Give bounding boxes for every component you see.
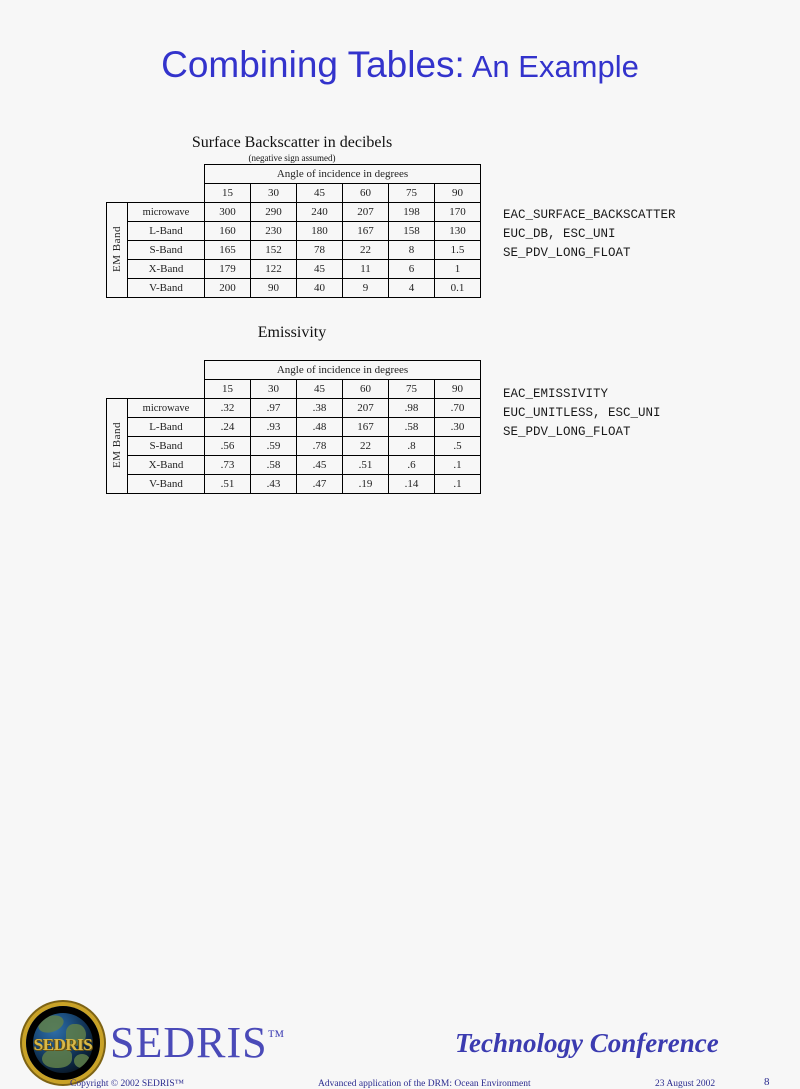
corner-spacer bbox=[107, 165, 128, 184]
table-cell: 8 bbox=[389, 241, 435, 260]
row-group-label-text: EM Band bbox=[112, 422, 123, 468]
sedris-wordmark: SEDRIS™ bbox=[110, 1017, 285, 1068]
table-cell: 158 bbox=[389, 222, 435, 241]
table-cell: 160 bbox=[205, 222, 251, 241]
row-label: microwave bbox=[128, 399, 205, 418]
table-cell: 130 bbox=[435, 222, 481, 241]
table-cell: 1.5 bbox=[435, 241, 481, 260]
sedris-wordmark-text: SEDRIS bbox=[110, 1018, 268, 1067]
trademark-symbol: ™ bbox=[268, 1026, 286, 1045]
table-cell: 165 bbox=[205, 241, 251, 260]
column-group-label-emissivity: Angle of incidence in degrees bbox=[205, 361, 481, 380]
table-row: X-Band .73 .58 .45 .51 .6 .1 bbox=[107, 456, 481, 475]
table-caption-emissivity: Emissivity bbox=[106, 324, 478, 342]
table-cell: .6 bbox=[389, 456, 435, 475]
table-cell: 290 bbox=[251, 203, 297, 222]
column-group-label-backscatter: Angle of incidence in degrees bbox=[205, 165, 481, 184]
table-cell: .78 bbox=[297, 437, 343, 456]
table-cell: 170 bbox=[435, 203, 481, 222]
angle-header: 15 bbox=[205, 380, 251, 399]
page-title: Combining Tables: An Example bbox=[0, 44, 800, 86]
table-cell: .97 bbox=[251, 399, 297, 418]
table-cell: .59 bbox=[251, 437, 297, 456]
logo-wordmark-text: SEDRIS bbox=[26, 1035, 100, 1055]
table-cell: 45 bbox=[297, 260, 343, 279]
table-block-backscatter: Surface Backscatter in decibels (negativ… bbox=[106, 134, 481, 298]
row-label: X-Band bbox=[128, 260, 205, 279]
table-row-angle-headers: 15 30 45 60 75 90 bbox=[107, 184, 481, 203]
table-cell: 78 bbox=[297, 241, 343, 260]
angle-header: 75 bbox=[389, 184, 435, 203]
table-cell: .70 bbox=[435, 399, 481, 418]
corner-spacer bbox=[128, 184, 205, 203]
table-row: V-Band 200 90 40 9 4 0.1 bbox=[107, 279, 481, 298]
table-cell: 4 bbox=[389, 279, 435, 298]
table-cell: 1 bbox=[435, 260, 481, 279]
table-cell: .8 bbox=[389, 437, 435, 456]
table-row: V-Band .51 .43 .47 .19 .14 .1 bbox=[107, 475, 481, 494]
table-row: EM Band microwave .32 .97 .38 207 .98 .7… bbox=[107, 399, 481, 418]
footer-copyright: Copyright © 2002 SEDRIS™ bbox=[70, 1079, 184, 1089]
footer-subject: Advanced application of the DRM: Ocean E… bbox=[318, 1079, 531, 1089]
table-cell: .51 bbox=[343, 456, 389, 475]
table-block-emissivity: Emissivity Angle of incidence in degrees… bbox=[106, 324, 481, 494]
table-cell: 22 bbox=[343, 437, 389, 456]
corner-spacer bbox=[107, 184, 128, 203]
table-caption-backscatter: Surface Backscatter in decibels bbox=[106, 134, 478, 152]
table-cell: .51 bbox=[205, 475, 251, 494]
table-cell: 240 bbox=[297, 203, 343, 222]
row-label: V-Band bbox=[128, 279, 205, 298]
table-cell: .58 bbox=[389, 418, 435, 437]
caption-spacer bbox=[106, 343, 481, 360]
row-label: S-Band bbox=[128, 241, 205, 260]
angle-header: 30 bbox=[251, 184, 297, 203]
row-label: S-Band bbox=[128, 437, 205, 456]
row-group-label-backscatter: EM Band bbox=[107, 203, 128, 298]
conference-title: Technology Conference bbox=[455, 1028, 719, 1059]
table-cell: .30 bbox=[435, 418, 481, 437]
table-cell: 6 bbox=[389, 260, 435, 279]
table-cell: .1 bbox=[435, 456, 481, 475]
corner-spacer bbox=[107, 361, 128, 380]
corner-spacer bbox=[128, 361, 205, 380]
table-cell: 198 bbox=[389, 203, 435, 222]
table-cell: 200 bbox=[205, 279, 251, 298]
corner-spacer bbox=[128, 380, 205, 399]
table-row: EM Band microwave 300 290 240 207 198 17… bbox=[107, 203, 481, 222]
table-cell: .58 bbox=[251, 456, 297, 475]
data-table-backscatter: Angle of incidence in degrees 15 30 45 6… bbox=[106, 164, 481, 298]
table-row: L-Band 160 230 180 167 158 130 bbox=[107, 222, 481, 241]
angle-header: 45 bbox=[297, 184, 343, 203]
angle-header: 90 bbox=[435, 184, 481, 203]
table-cell: .43 bbox=[251, 475, 297, 494]
annotation-backscatter: EAC_SURFACE_BACKSCATTER EUC_DB, ESC_UNI … bbox=[503, 206, 676, 263]
table-cell: .19 bbox=[343, 475, 389, 494]
table-cell: 230 bbox=[251, 222, 297, 241]
page-title-sub: An Example bbox=[465, 49, 639, 84]
row-group-label-text: EM Band bbox=[112, 226, 123, 272]
table-cell: .73 bbox=[205, 456, 251, 475]
table-cell: .38 bbox=[297, 399, 343, 418]
table-cell: 22 bbox=[343, 241, 389, 260]
table-cell: .47 bbox=[297, 475, 343, 494]
row-label: L-Band bbox=[128, 418, 205, 437]
data-table-emissivity: Angle of incidence in degrees 15 30 45 6… bbox=[106, 360, 481, 494]
table-cell: .1 bbox=[435, 475, 481, 494]
table-row: X-Band 179 122 45 11 6 1 bbox=[107, 260, 481, 279]
table-cell: .5 bbox=[435, 437, 481, 456]
table-cell: 179 bbox=[205, 260, 251, 279]
angle-header: 60 bbox=[343, 184, 389, 203]
table-cell: .14 bbox=[389, 475, 435, 494]
table-cell: 167 bbox=[343, 222, 389, 241]
angle-header: 30 bbox=[251, 380, 297, 399]
table-row-group-header: Angle of incidence in degrees bbox=[107, 165, 481, 184]
table-row-angle-headers: 15 30 45 60 75 90 bbox=[107, 380, 481, 399]
row-group-label-emissivity: EM Band bbox=[107, 399, 128, 494]
table-cell: 9 bbox=[343, 279, 389, 298]
table-cell: 207 bbox=[343, 399, 389, 418]
table-row: S-Band 165 152 78 22 8 1.5 bbox=[107, 241, 481, 260]
angle-header: 75 bbox=[389, 380, 435, 399]
table-cell: .48 bbox=[297, 418, 343, 437]
table-cell: .56 bbox=[205, 437, 251, 456]
table-cell: 0.1 bbox=[435, 279, 481, 298]
row-label: X-Band bbox=[128, 456, 205, 475]
row-label: microwave bbox=[128, 203, 205, 222]
table-cell: .45 bbox=[297, 456, 343, 475]
annotation-emissivity: EAC_EMISSIVITY EUC_UNITLESS, ESC_UNI SE_… bbox=[503, 385, 661, 442]
footer-date: 23 August 2002 bbox=[655, 1079, 715, 1089]
slide-footer: SEDRIS SEDRIS™ Technology Conference Cop… bbox=[0, 498, 800, 600]
angle-header: 15 bbox=[205, 184, 251, 203]
angle-header: 45 bbox=[297, 380, 343, 399]
table-cell: .32 bbox=[205, 399, 251, 418]
table-cell: 90 bbox=[251, 279, 297, 298]
table-subcaption-backscatter: (negative sign assumed) bbox=[106, 153, 478, 163]
corner-spacer bbox=[128, 165, 205, 184]
table-row: S-Band .56 .59 .78 22 .8 .5 bbox=[107, 437, 481, 456]
table-cell: 300 bbox=[205, 203, 251, 222]
table-cell: .93 bbox=[251, 418, 297, 437]
angle-header: 90 bbox=[435, 380, 481, 399]
page-title-main: Combining Tables: bbox=[161, 44, 465, 85]
table-cell: 207 bbox=[343, 203, 389, 222]
row-label: L-Band bbox=[128, 222, 205, 241]
corner-spacer bbox=[107, 380, 128, 399]
row-label: V-Band bbox=[128, 475, 205, 494]
table-cell: 122 bbox=[251, 260, 297, 279]
table-cell: 40 bbox=[297, 279, 343, 298]
table-cell: .24 bbox=[205, 418, 251, 437]
table-row-group-header: Angle of incidence in degrees bbox=[107, 361, 481, 380]
table-row: L-Band .24 .93 .48 167 .58 .30 bbox=[107, 418, 481, 437]
sedris-globe-logo-icon: SEDRIS bbox=[26, 1006, 100, 1080]
table-cell: 167 bbox=[343, 418, 389, 437]
table-cell: 180 bbox=[297, 222, 343, 241]
table-cell: 152 bbox=[251, 241, 297, 260]
table-cell: 11 bbox=[343, 260, 389, 279]
table-cell: .98 bbox=[389, 399, 435, 418]
footer-page-number: 8 bbox=[764, 1076, 770, 1088]
angle-header: 60 bbox=[343, 380, 389, 399]
